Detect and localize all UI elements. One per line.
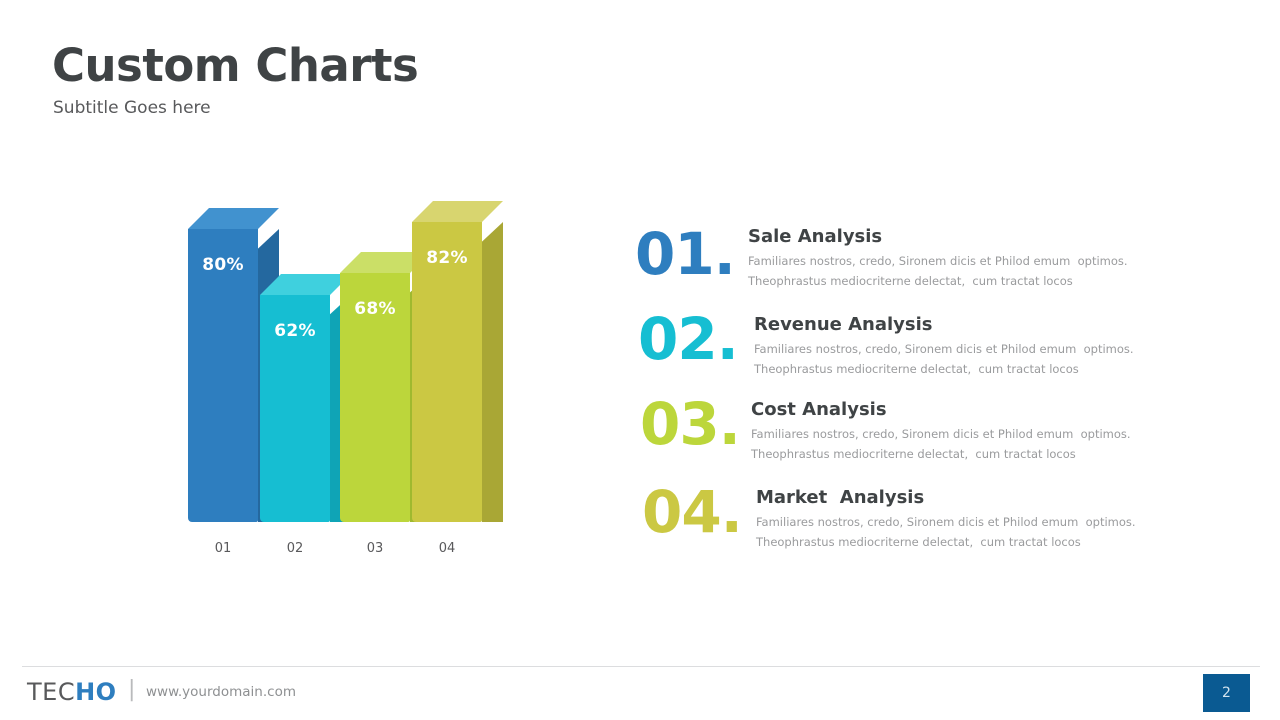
footer-url: www.yourdomain.com (146, 684, 296, 700)
bar-category-label: 01 (188, 541, 258, 556)
logo-text-accent: HO (75, 678, 117, 706)
bar-top-face (260, 274, 351, 295)
item-description-line-1: Familiares nostros, credo, Sironem dicis… (754, 339, 1134, 359)
item-number: 01. (635, 225, 735, 283)
analysis-list: 01.Sale AnalysisFamiliares nostros, cred… (630, 225, 1150, 570)
page-subtitle: Subtitle Goes here (53, 98, 211, 118)
bar-value-label: 62% (260, 321, 330, 341)
bar-top-face (412, 201, 503, 222)
brand-logo: TECHO (27, 678, 117, 706)
page-title: Custom Charts (52, 42, 418, 89)
item-description-line-1: Familiares nostros, credo, Sironem dicis… (748, 251, 1128, 271)
bar-top-face (188, 208, 279, 229)
bar-04: 82%04 (412, 201, 503, 556)
item-title: Sale Analysis (748, 226, 1128, 248)
item-number: 03. (640, 395, 740, 453)
item-description-line-2: Theophrastus mediocriterne delectat, cum… (748, 271, 1128, 291)
item-body: Market AnalysisFamiliares nostros, credo… (756, 487, 1136, 552)
item-description-line-2: Theophrastus mediocriterne delectat, cum… (756, 532, 1136, 552)
bar-value-label: 68% (340, 299, 410, 319)
bar-category-label: 04 (412, 541, 482, 556)
logo-text-primary: TEC (27, 678, 75, 706)
item-description-line-1: Familiares nostros, credo, Sironem dicis… (756, 512, 1136, 532)
footer-divider (22, 666, 1260, 667)
item-number: 04. (642, 483, 742, 541)
item-description-line-1: Familiares nostros, credo, Sironem dicis… (751, 424, 1131, 444)
item-number: 02. (638, 310, 738, 368)
bar-category-label: 02 (260, 541, 330, 556)
item-body: Revenue AnalysisFamiliares nostros, cred… (754, 314, 1134, 379)
bar-value-label: 82% (412, 248, 482, 268)
bar-chart: 80%0162%0268%0382%04 (160, 210, 560, 590)
item-body: Sale AnalysisFamiliares nostros, credo, … (748, 226, 1128, 291)
item-description-line-2: Theophrastus mediocriterne delectat, cum… (751, 444, 1131, 464)
item-title: Market Analysis (756, 487, 1136, 509)
item-description-line-2: Theophrastus mediocriterne delectat, cum… (754, 359, 1134, 379)
bar-category-label: 03 (340, 541, 410, 556)
page-number-badge: 2 (1203, 674, 1250, 712)
bar-value-label: 80% (188, 255, 258, 275)
item-title: Cost Analysis (751, 399, 1131, 421)
bar-02: 62%02 (260, 274, 351, 556)
item-title: Revenue Analysis (754, 314, 1134, 336)
item-body: Cost AnalysisFamiliares nostros, credo, … (751, 399, 1131, 464)
bar-side-face (482, 222, 503, 522)
footer-separator: | (128, 677, 135, 702)
